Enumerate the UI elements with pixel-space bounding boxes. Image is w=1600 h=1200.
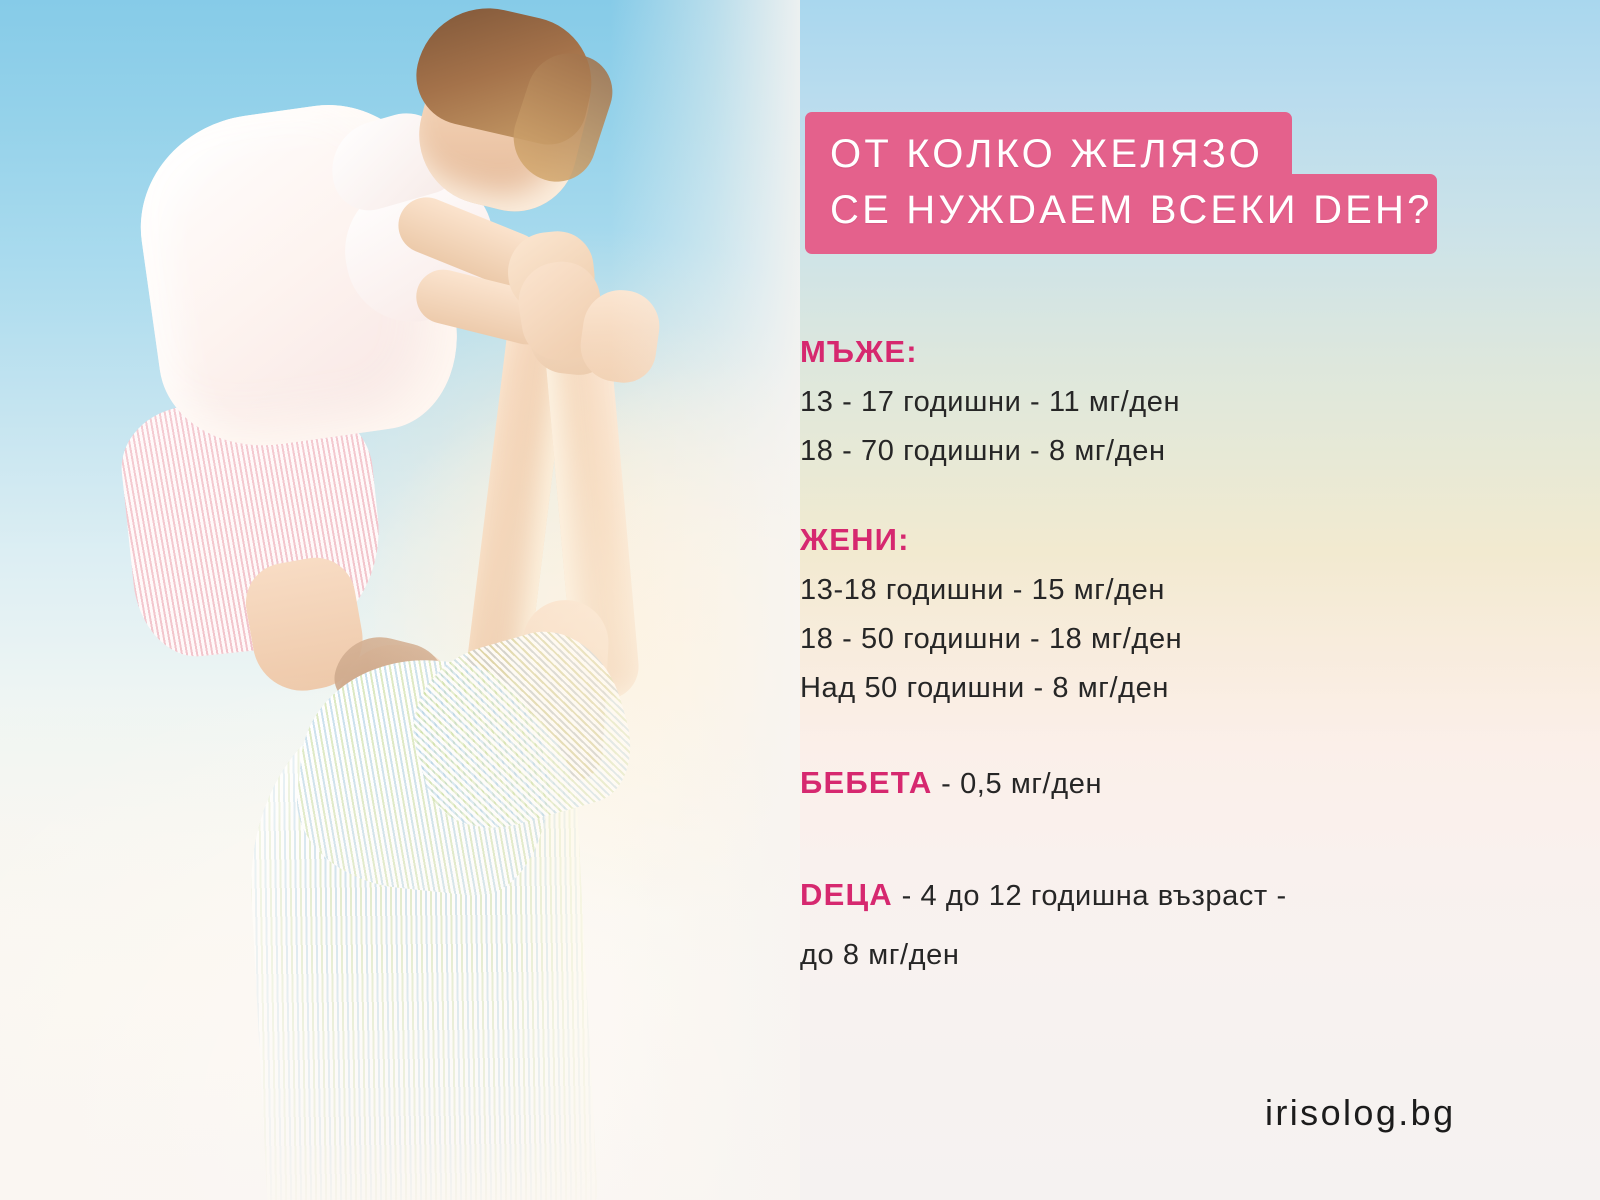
title-line-2: СЕ НУЖDAЕМ ВСЕКИ DЕН? <box>830 182 1437 238</box>
infographic-canvas: ОТ КОЛКО ЖЕЛЯЗО СЕ НУЖDAЕМ ВСЕКИ DЕН? МЪ… <box>0 0 1600 1200</box>
section-men-line-1: 13 - 17 годишни - 11 мг/ден <box>800 378 1560 427</box>
title-line-1: ОТ КОЛКО ЖЕЛЯЗО <box>830 126 1437 182</box>
section-men-heading: МЪЖЕ: <box>800 330 1560 374</box>
section-women: ЖЕНИ: 13-18 годишни - 15 мг/ден 18 - 50 … <box>800 518 1560 713</box>
section-children-line-2: до 8 мг/ден <box>800 929 1560 981</box>
site-watermark: irisolog.bg <box>1265 1092 1456 1134</box>
section-babies-value: - 0,5 мг/ден <box>933 768 1103 800</box>
section-children-heading: DЕЦА <box>800 877 893 912</box>
hero-photo <box>0 0 800 1200</box>
section-babies: БЕБЕТА - 0,5 мг/ден <box>800 755 1560 817</box>
section-women-line-2: 18 - 50 годишни - 18 мг/ден <box>800 615 1560 664</box>
title-banner: ОТ КОЛКО ЖЕЛЯЗО СЕ НУЖDAЕМ ВСЕКИ DЕН? <box>805 112 1437 254</box>
section-children-value: - 4 до 12 годишна възраст - <box>893 880 1287 912</box>
section-women-line-3: Над 50 годишни - 8 мг/ден <box>800 664 1560 713</box>
section-babies-heading: БЕБЕТА <box>800 765 933 800</box>
section-women-line-1: 13-18 годишни - 15 мг/ден <box>800 566 1560 615</box>
banner-title-text: ОТ КОЛКО ЖЕЛЯЗО СЕ НУЖDAЕМ ВСЕКИ DЕН? <box>805 112 1437 254</box>
section-men: МЪЖЕ: 13 - 17 годишни - 11 мг/ден 18 - 7… <box>800 330 1560 476</box>
section-women-heading: ЖЕНИ: <box>800 518 1560 562</box>
content-column: МЪЖЕ: 13 - 17 годишни - 11 мг/ден 18 - 7… <box>800 330 1560 981</box>
section-men-line-2: 18 - 70 годишни - 8 мг/ден <box>800 427 1560 476</box>
section-children: DЕЦА - 4 до 12 годишна възраст - до 8 мг… <box>800 867 1560 981</box>
